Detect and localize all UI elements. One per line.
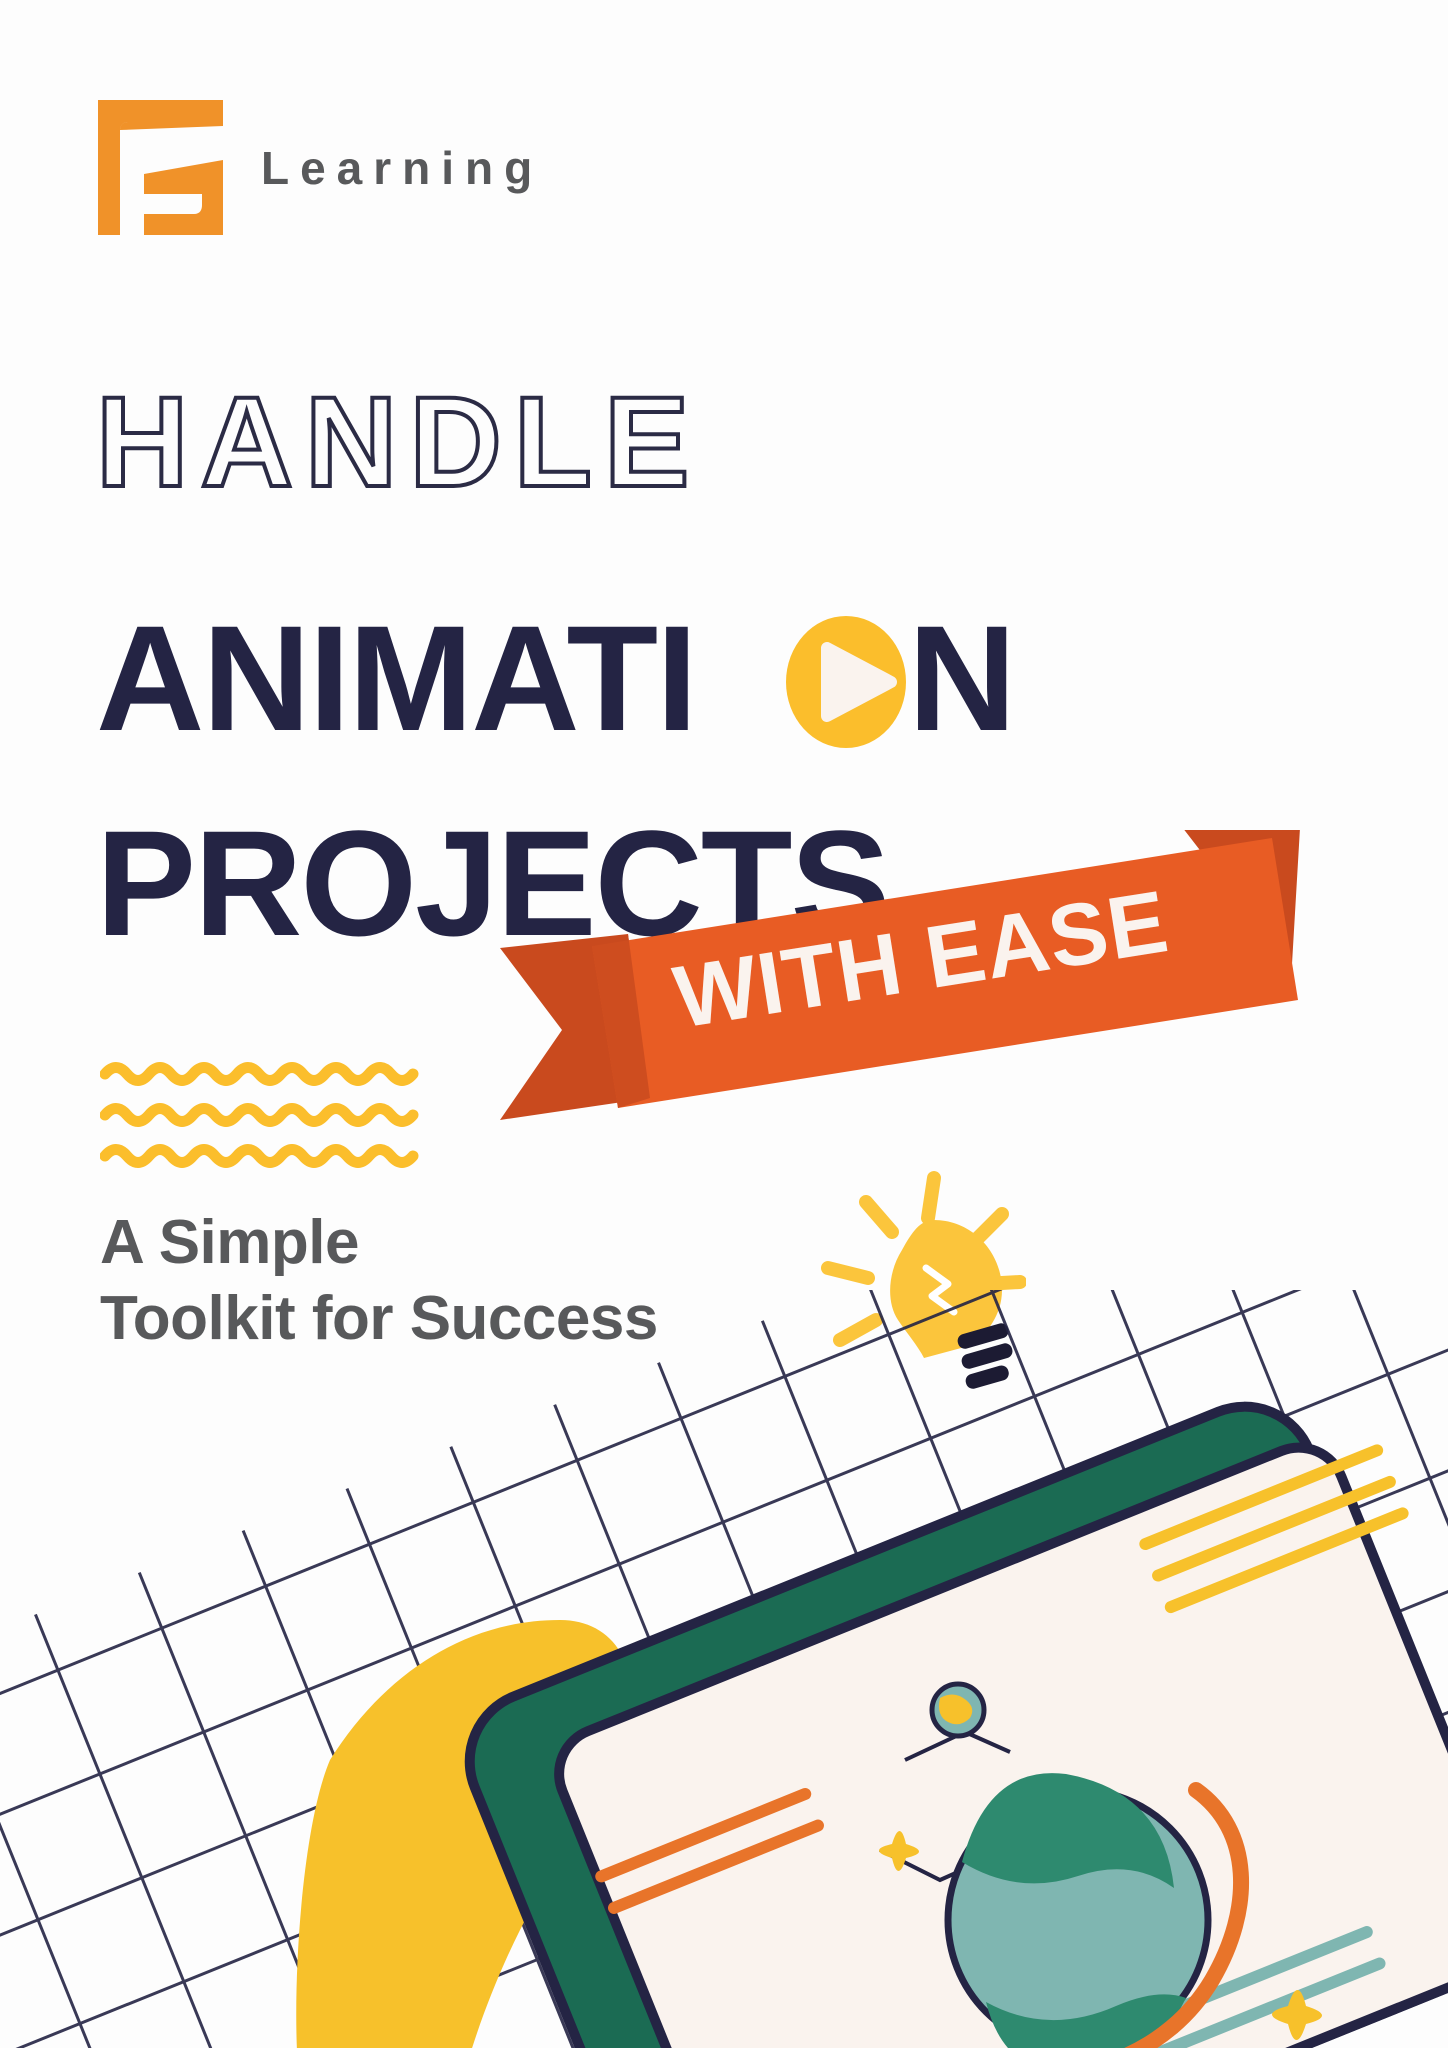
wave-decoration: [100, 1060, 480, 1170]
headline-group: HANDLE ANIMATI N PROJECTS W: [0, 0, 1448, 1100]
headline-line-2: ANIMATI N: [96, 600, 1126, 770]
headline-line-1: HANDLE: [96, 382, 836, 512]
headline-line-2-part-b: N: [908, 600, 1014, 762]
ribbon-banner: WITH EASE: [500, 830, 1300, 1160]
headline-line-1-text: HANDLE: [96, 382, 701, 512]
wave-line: [105, 1150, 413, 1163]
headline-line-2-part-a: ANIMATI: [96, 600, 696, 762]
wave-line: [105, 1109, 413, 1122]
subtitle-line-1: A Simple: [100, 1205, 658, 1281]
headline-line-2-svg: ANIMATI N: [96, 600, 1126, 765]
globe-icon: [932, 1684, 984, 1736]
bottom-illustration: [0, 1290, 1448, 2048]
wave-line: [105, 1068, 413, 1081]
poster-canvas: Learning HANDLE ANIMATI N PROJECTS: [0, 0, 1448, 2048]
